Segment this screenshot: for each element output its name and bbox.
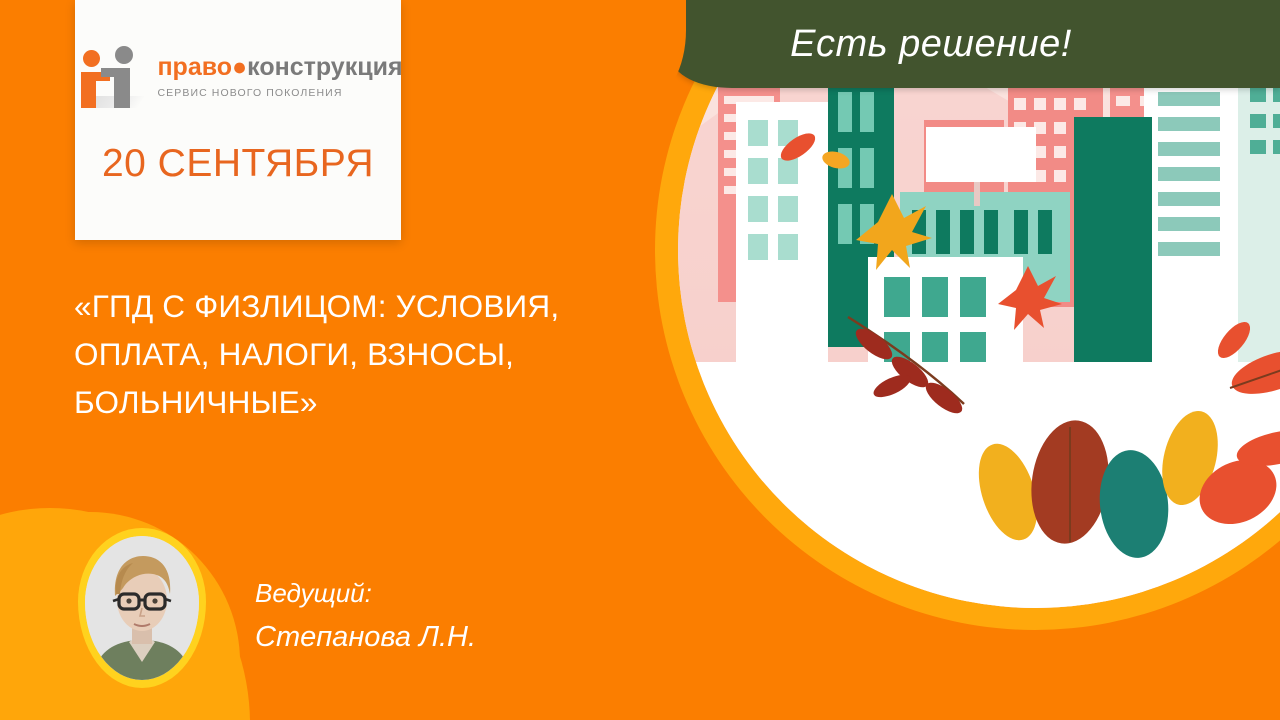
person-figure-orange-head-icon: [83, 50, 100, 67]
banner-text: Есть решение!: [790, 23, 1072, 66]
brand-name-part2: конструкция: [247, 53, 402, 81]
person-figure-gray-arm-icon: [101, 68, 115, 77]
presenter-name: Степанова Л.Н.: [255, 614, 476, 661]
people-figures-icon: [77, 46, 143, 108]
logo-lockup: право●конструкция СЕРВИС НОВОГО ПОКОЛЕНИ…: [77, 46, 402, 108]
cityscape-svg: [678, 0, 1280, 608]
header-banner: Есть решение!: [672, 0, 1280, 88]
person-figure-gray-body-icon: [114, 68, 130, 108]
logo-card: право●конструкция СЕРВИС НОВОГО ПОКОЛЕНИ…: [75, 0, 401, 240]
brand-dot-icon: ●: [232, 53, 247, 81]
logo-wordmark: право●конструкция СЕРВИС НОВОГО ПОКОЛЕНИ…: [157, 55, 402, 99]
avatar: [78, 528, 206, 688]
brand-name: право●конструкция: [157, 55, 402, 80]
brand-tagline: СЕРВИС НОВОГО ПОКОЛЕНИЯ: [157, 87, 402, 99]
page-title: «ГПД С ФИЗЛИЦОМ: УСЛОВИЯ, ОПЛАТА, НАЛОГИ…: [74, 283, 664, 427]
event-date: 20 СЕНТЯБРЯ: [102, 142, 374, 186]
slide-root: Есть решение! право●конструкция СЕРВИС Н…: [0, 0, 1280, 720]
presenter-info: Ведущий: Степанова Л.Н.: [255, 572, 476, 661]
autumn-cityscape-illustration: [678, 0, 1280, 608]
presenter-role-label: Ведущий:: [255, 572, 476, 614]
person-figure-orange-body-icon: [81, 72, 96, 108]
person-figure-gray-head-icon: [115, 46, 133, 64]
brand-name-part1: право: [157, 53, 232, 81]
